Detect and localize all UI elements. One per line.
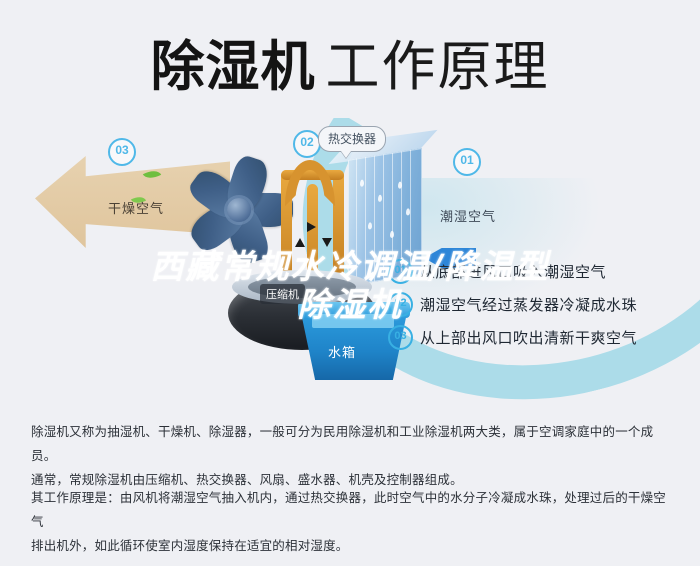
step-number-01: 01 — [388, 259, 413, 284]
callout-badge-03: 03 — [108, 138, 136, 166]
fan-hub-icon — [227, 198, 251, 222]
paragraph-1-line-1: 除湿机又称为抽湿机、干燥机、除湿器，一般可分为民用除湿机和工业除湿机两大类，属于… — [31, 420, 671, 468]
list-item: 02 潮湿空气经过蒸发器冷凝成水珠 — [388, 288, 684, 321]
step-number-03: 03 — [388, 325, 413, 350]
dry-air-label: 干燥空气 — [108, 198, 164, 217]
step-text-01: 从底部进风口吸入潮湿空气 — [420, 261, 606, 282]
paragraph-2-line-1: 其工作原理是：由风机将潮湿空气抽入机内，通过热交换器，此时空气中的水分子冷凝成水… — [31, 486, 671, 534]
callout-badge-01: 01 — [453, 148, 481, 176]
water-tank-label: 水箱 — [328, 342, 356, 361]
step-text-03: 从上部出风口吹出清新干爽空气 — [420, 327, 637, 348]
list-item: 01 从底部进风口吸入潮湿空气 — [388, 255, 684, 288]
step-number-02: 02 — [388, 292, 413, 317]
description-paragraph-2: 其工作原理是：由风机将潮湿空气抽入机内，通过热交换器，此时空气中的水分子冷凝成水… — [31, 486, 671, 558]
callout-badge-02: 02 — [293, 130, 321, 158]
page-title-light: 工作原理 — [326, 37, 550, 97]
wet-air-label: 潮湿空气 — [440, 206, 496, 225]
heat-exchanger-callout: 热交换器 — [318, 126, 386, 152]
step-text-02: 潮湿空气经过蒸发器冷凝成水珠 — [420, 294, 637, 315]
page-title-bold: 除湿机 — [151, 35, 316, 98]
list-item: 03 从上部出风口吹出清新干爽空气 — [388, 321, 684, 354]
paragraph-2-line-2: 排出机外，如此循环使室内湿度保持在适宜的相对湿度。 — [31, 534, 671, 558]
description-paragraph-1: 除湿机又称为抽湿机、干燥机、除湿器，一般可分为民用除湿机和工业除湿机两大类，属于… — [31, 420, 671, 492]
step-list: 01 从底部进风口吸入潮湿空气 02 潮湿空气经过蒸发器冷凝成水珠 03 从上部… — [388, 255, 684, 354]
water-level-icon — [312, 314, 394, 328]
page-title: 除湿机工作原理 — [0, 22, 700, 101]
compressor-label: 压缩机 — [260, 284, 305, 304]
